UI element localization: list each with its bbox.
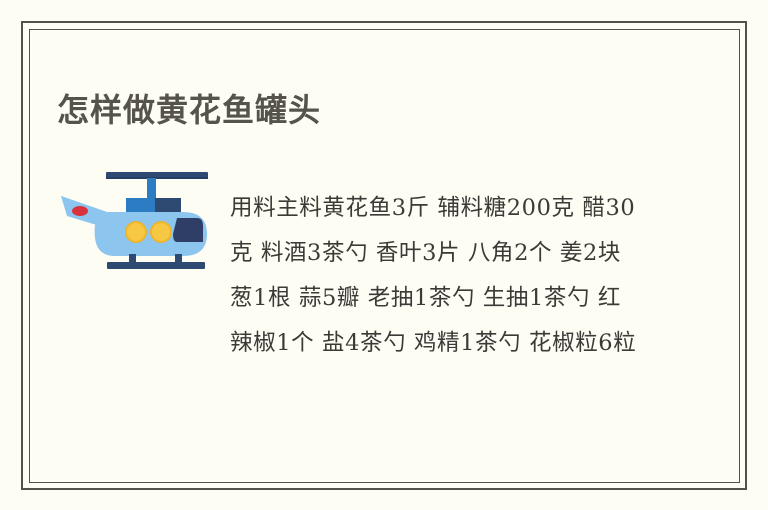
porthole-left-shape — [127, 223, 145, 241]
porthole-right-shape — [152, 223, 170, 241]
ingredients-text: 用料主料黄花鱼3斤 辅料糖200克 醋30克 料酒3茶勺 香叶3片 八角2个 姜… — [230, 186, 642, 366]
engine-block-dark-shape — [155, 198, 181, 214]
rotor-blade-shadow-shape — [106, 177, 208, 179]
tail-light-shape — [72, 206, 88, 216]
page-root: 怎样做黄花鱼罐头 — [0, 0, 768, 510]
skid-bar-shape — [107, 262, 205, 269]
helicopter-illustration — [57, 168, 217, 272]
rotor-mast-shape — [147, 178, 156, 200]
helicopter-icon — [57, 168, 217, 272]
page-title: 怎样做黄花鱼罐头 — [57, 88, 321, 132]
cockpit-window-shape — [173, 218, 203, 242]
